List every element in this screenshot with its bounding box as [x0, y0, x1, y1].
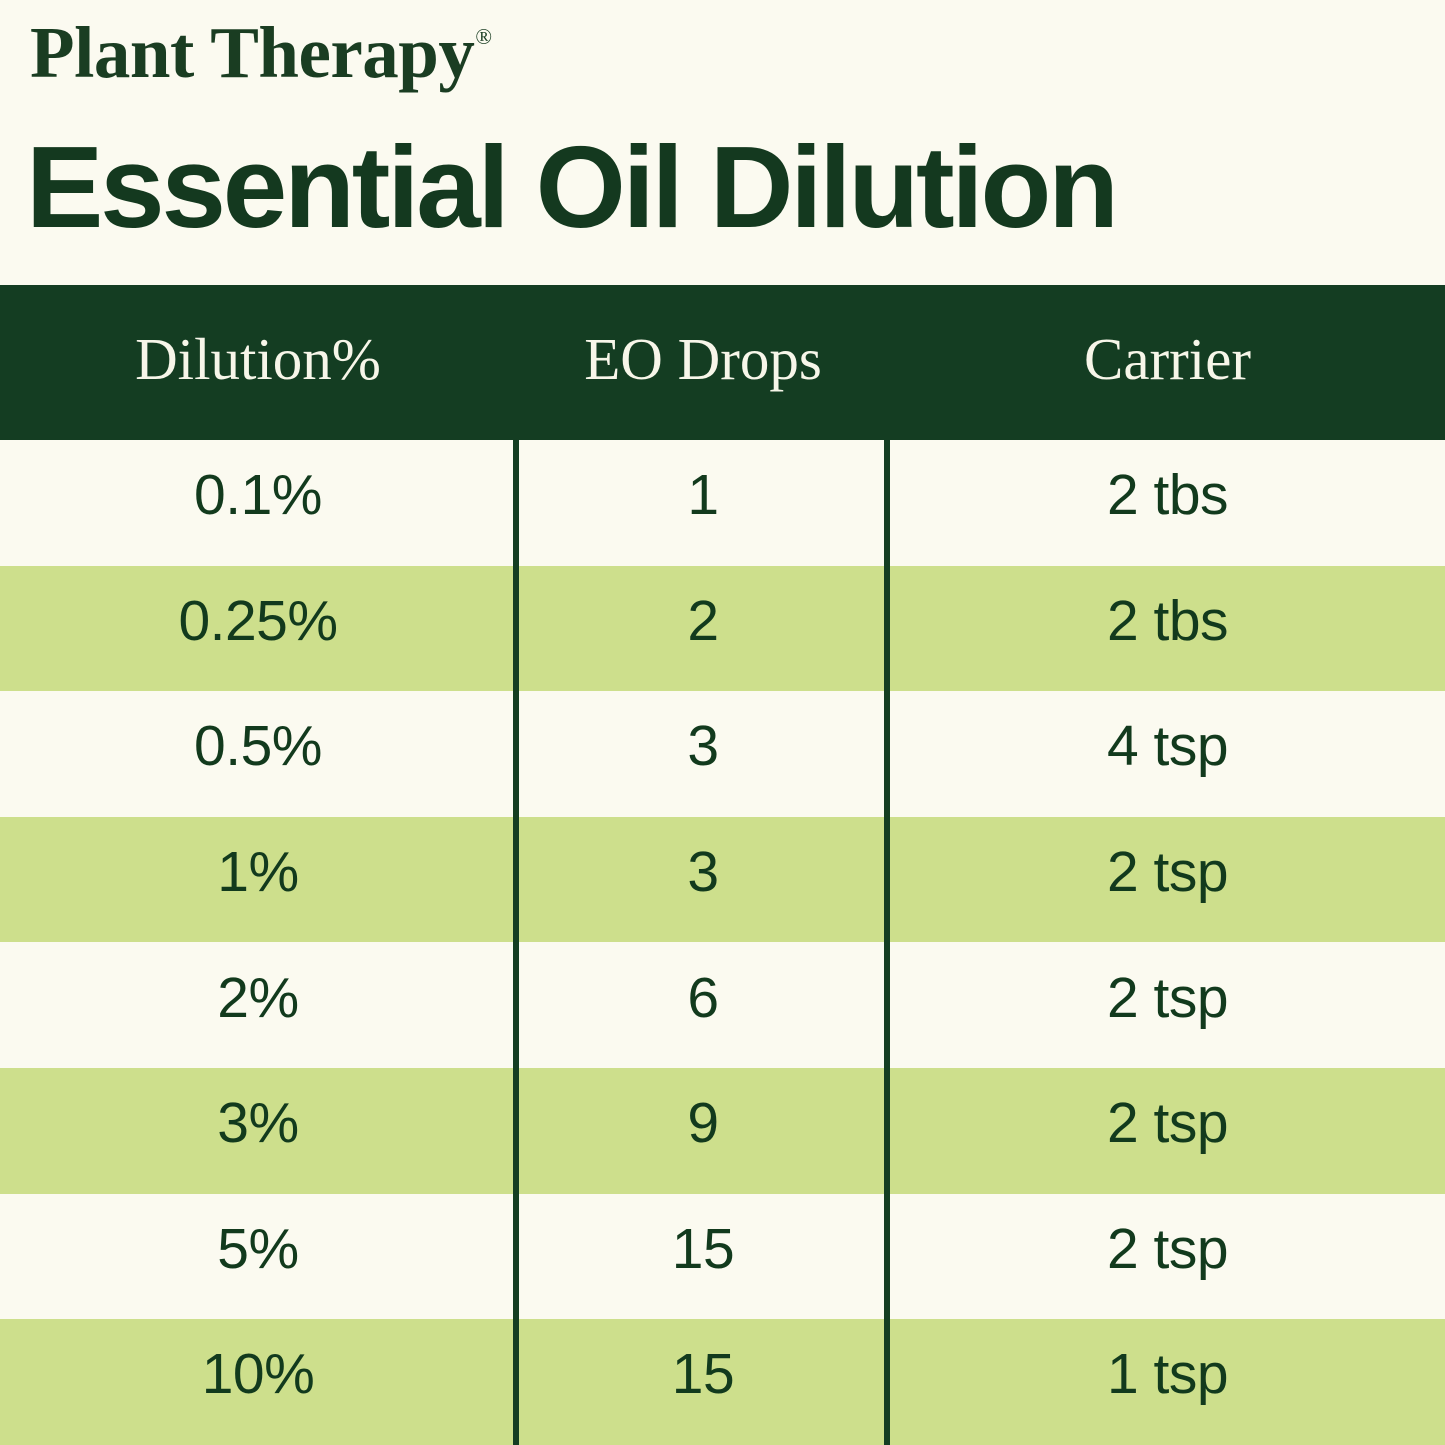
brand-name: Plant Therapy [30, 12, 474, 93]
table-row: 0.25% 2 2 tbs [0, 566, 1445, 692]
registered-trademark-icon: ® [475, 24, 492, 49]
cell-eo-drops: 2 [516, 593, 890, 664]
cell-dilution: 0.1% [0, 467, 516, 538]
cell-dilution: 10% [0, 1346, 516, 1417]
cell-carrier: 2 tbs [890, 593, 1445, 664]
cell-carrier: 2 tsp [890, 844, 1445, 915]
cell-carrier: 2 tsp [890, 1095, 1445, 1166]
dilution-table: Dilution% EO Drops Carrier 0.1% 1 2 tbs … [0, 285, 1445, 1445]
cell-dilution: 2% [0, 970, 516, 1041]
cell-carrier: 4 tsp [890, 718, 1445, 789]
column-divider-1 [513, 440, 519, 1445]
table-row: 3% 9 2 tsp [0, 1068, 1445, 1194]
cell-dilution: 0.25% [0, 593, 516, 664]
cell-carrier: 2 tbs [890, 467, 1445, 538]
table-row: 0.1% 1 2 tbs [0, 440, 1445, 566]
cell-carrier: 2 tsp [890, 1221, 1445, 1292]
table-row: 5% 15 2 tsp [0, 1194, 1445, 1320]
column-header-dilution: Dilution% [0, 330, 516, 395]
cell-eo-drops: 6 [516, 970, 890, 1041]
cell-eo-drops: 3 [516, 844, 890, 915]
brand-logo: Plant Therapy® [30, 16, 491, 89]
page-title: Essential Oil Dilution [26, 129, 1116, 245]
cell-dilution: 3% [0, 1095, 516, 1166]
table-row: 2% 6 2 tsp [0, 942, 1445, 1068]
column-divider-2 [884, 440, 890, 1445]
cell-carrier: 1 tsp [890, 1346, 1445, 1417]
table-row: 0.5% 3 4 tsp [0, 691, 1445, 817]
column-header-eo-drops: EO Drops [516, 330, 890, 395]
cell-eo-drops: 3 [516, 718, 890, 789]
cell-eo-drops: 15 [516, 1221, 890, 1292]
cell-carrier: 2 tsp [890, 970, 1445, 1041]
table-row: 10% 15 1 tsp [0, 1319, 1445, 1445]
cell-eo-drops: 1 [516, 467, 890, 538]
column-header-carrier: Carrier [890, 330, 1445, 395]
table-body: 0.1% 1 2 tbs 0.25% 2 2 tbs 0.5% 3 4 tsp … [0, 440, 1445, 1445]
cell-eo-drops: 9 [516, 1095, 890, 1166]
cell-dilution: 1% [0, 844, 516, 915]
cell-dilution: 5% [0, 1221, 516, 1292]
dilution-chart-page: Plant Therapy® Essential Oil Dilution Di… [0, 0, 1445, 1445]
cell-dilution: 0.5% [0, 718, 516, 789]
table-row: 1% 3 2 tsp [0, 817, 1445, 943]
cell-eo-drops: 15 [516, 1346, 890, 1417]
table-header-row: Dilution% EO Drops Carrier [0, 285, 1445, 440]
brand-header: Plant Therapy® Essential Oil Dilution [0, 0, 1445, 285]
